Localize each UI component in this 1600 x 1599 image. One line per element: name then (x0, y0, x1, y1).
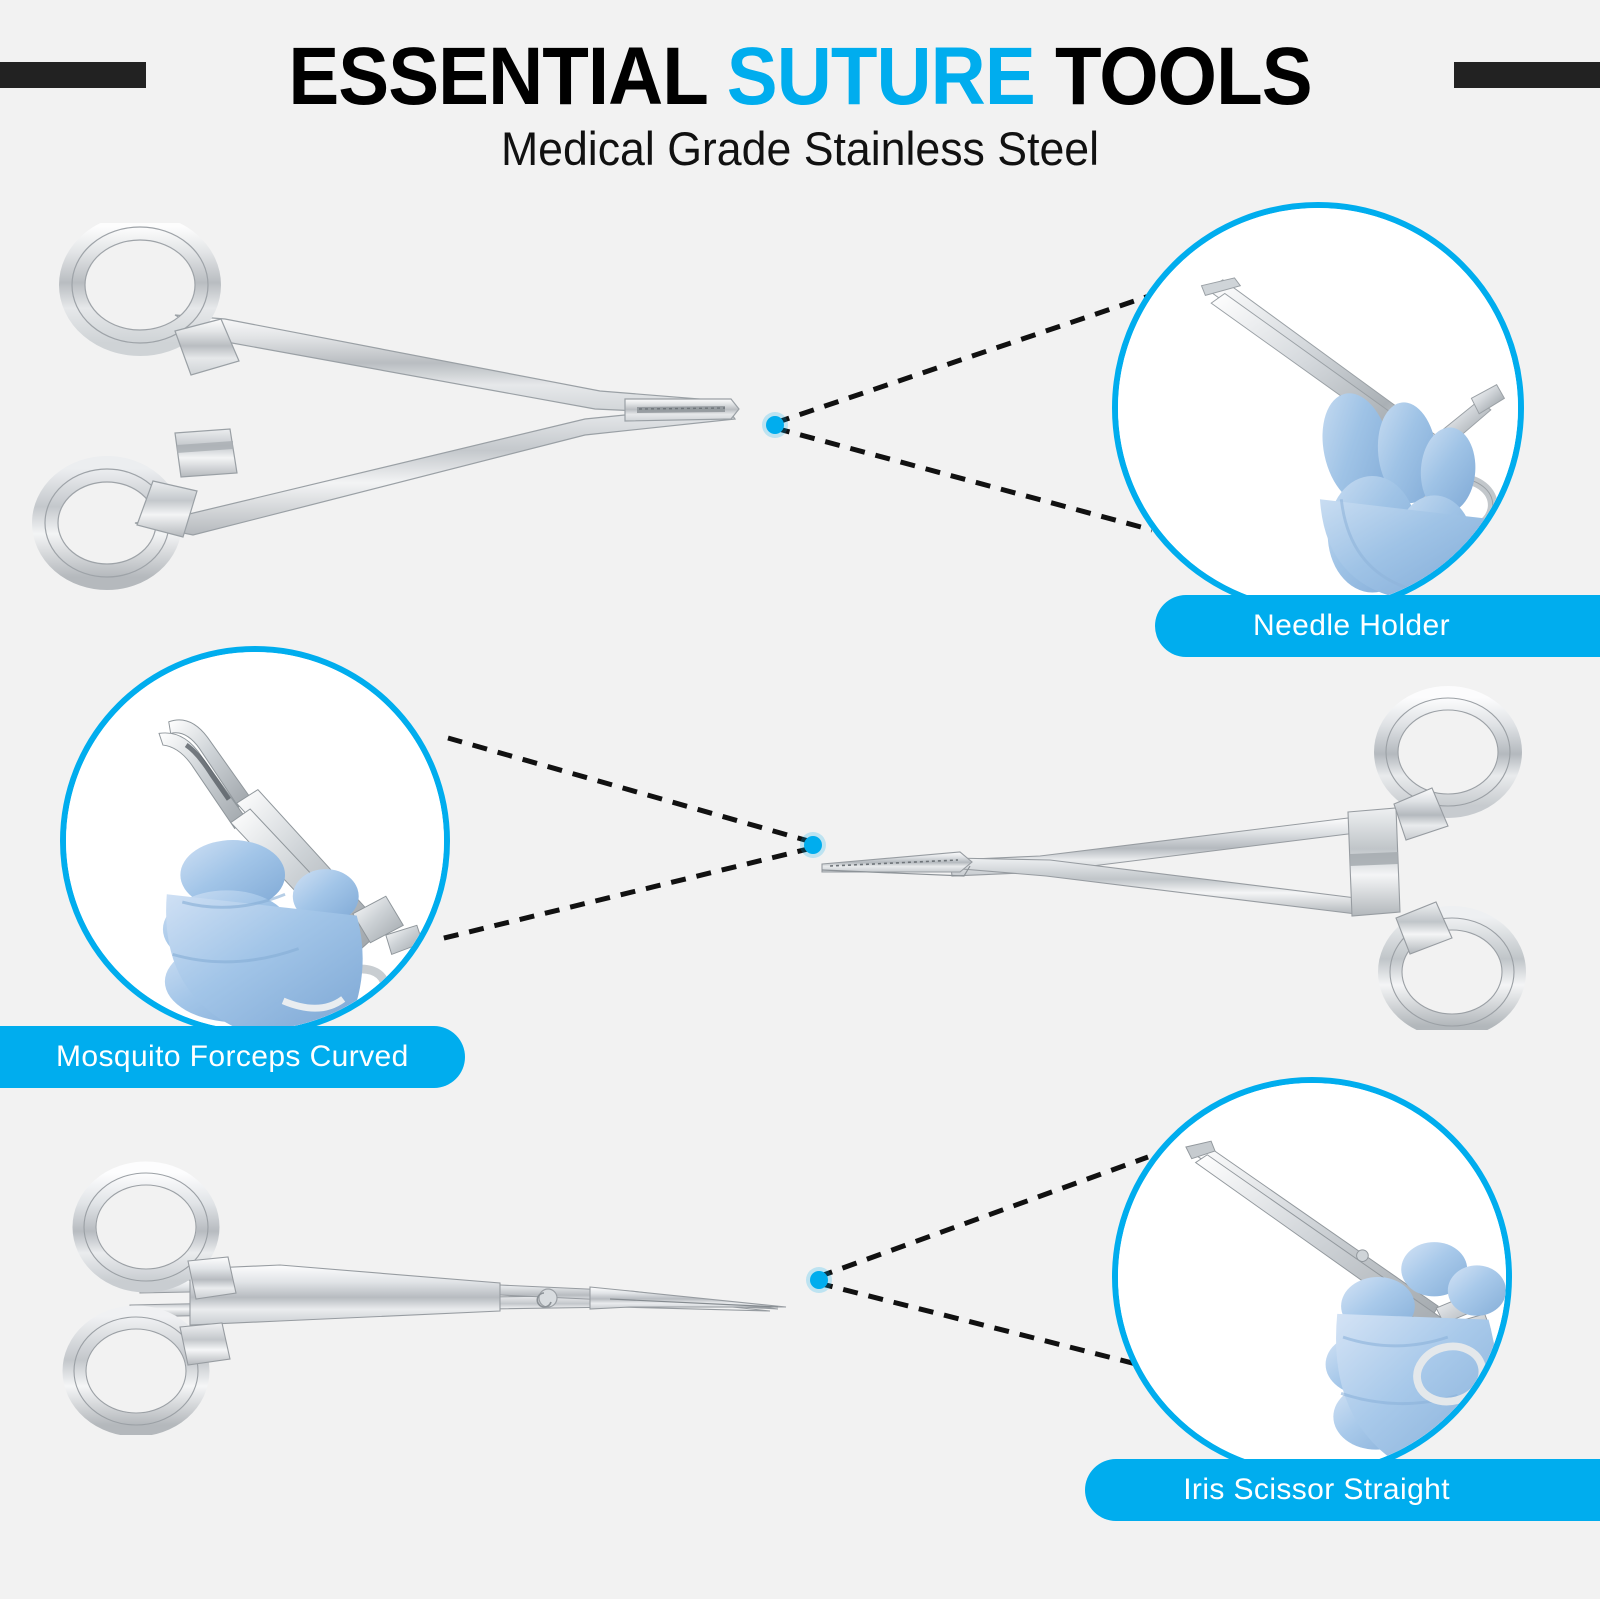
page-subtitle: Medical Grade Stainless Steel (40, 122, 1560, 176)
needle-holder-instrument-icon (25, 223, 755, 603)
header-banner: ESSENTIAL SUTURE TOOLS Medical Grade Sta… (0, 0, 1600, 185)
gloved-hand-holding-curved-forceps-icon (66, 652, 444, 1030)
title-part-1: ESSENTIAL (288, 31, 726, 122)
connector-dot-iris-scissor (806, 1267, 832, 1293)
mosquito-forceps-curved-instrument-icon (800, 680, 1540, 1030)
callout-circle-needle-holder (1112, 202, 1524, 614)
title-highlight: SUTURE (727, 31, 1035, 122)
iris-scissor-straight-instrument-icon (30, 1135, 820, 1435)
gloved-hand-holding-iris-scissor-icon (1118, 1083, 1506, 1471)
product-image-needle-holder (25, 223, 755, 603)
callout-circle-mosquito-forceps (60, 646, 450, 1036)
product-row-iris-scissor: Iris Scissor Straight (0, 1085, 1600, 1599)
connector-dot-needle-holder (762, 412, 788, 438)
product-image-mosquito-forceps (800, 680, 1540, 1030)
gloved-hand-holding-needle-holder-icon (1118, 208, 1518, 608)
page-title: ESSENTIAL SUTURE TOOLS (56, 34, 1544, 120)
title-part-3: TOOLS (1035, 31, 1312, 122)
callout-circle-iris-scissor (1112, 1077, 1512, 1477)
product-row-needle-holder: Needle Holder (0, 185, 1600, 660)
product-label-iris-scissor[interactable]: Iris Scissor Straight (1085, 1459, 1600, 1521)
product-image-iris-scissor (30, 1135, 820, 1435)
product-label-mosquito-forceps[interactable]: Mosquito Forceps Curved (0, 1026, 465, 1088)
product-row-mosquito-forceps: Mosquito Forceps Curved (0, 630, 1600, 1100)
